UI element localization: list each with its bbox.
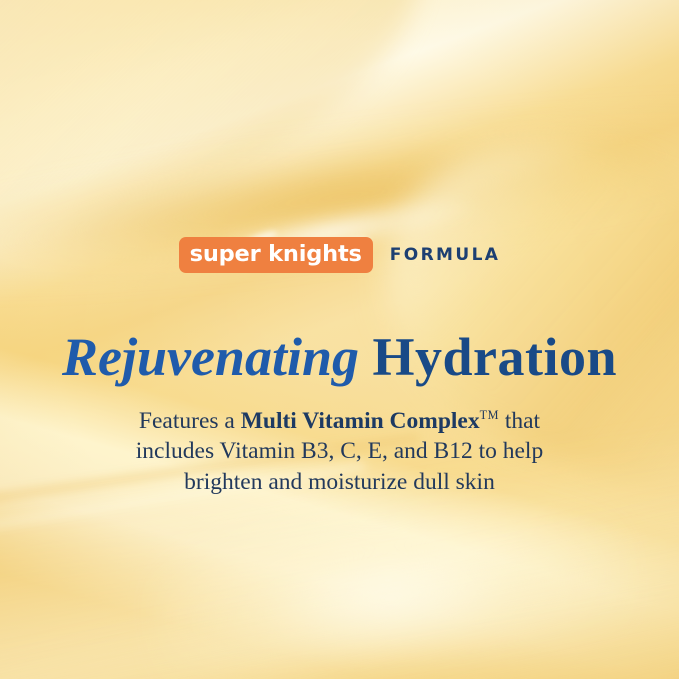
body-line-1: Features a Multi Vitamin ComplexTM that <box>0 400 679 437</box>
body-line-1-emphasis: Multi Vitamin Complex <box>241 407 480 433</box>
body-line-3: brighten and moisturize dull skin <box>0 467 679 498</box>
brand-badge: super knights <box>179 237 373 273</box>
headline-italic-word: Rejuvenating <box>62 327 359 387</box>
body-copy: Features a Multi Vitamin ComplexTM that … <box>0 400 679 499</box>
brand-formula-label: FORMULA <box>390 245 501 265</box>
body-line-1-prefix: Features a <box>139 407 241 433</box>
headline-space <box>359 327 373 387</box>
marketing-banner: super knights FORMULA Rejuvenating Hydra… <box>0 0 679 679</box>
banner-content: super knights FORMULA Rejuvenating Hydra… <box>0 0 679 679</box>
body-line-2: includes Vitamin B3, C, E, and B12 to he… <box>0 436 679 467</box>
body-line-1-suffix: that <box>499 407 540 433</box>
brand-lockup: super knights FORMULA <box>0 237 679 273</box>
headline: Rejuvenating Hydration <box>0 328 679 386</box>
trademark-symbol: TM <box>480 408 499 422</box>
headline-roman-word: Hydration <box>373 327 618 387</box>
